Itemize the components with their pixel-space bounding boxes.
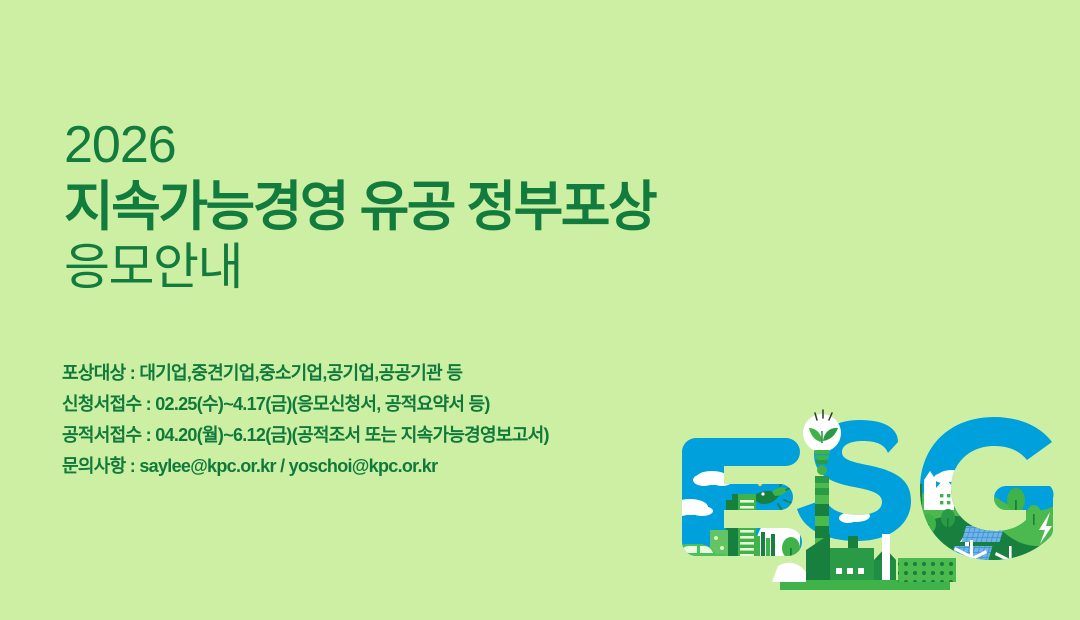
letter-e-group [660, 438, 820, 582]
tree-icon [782, 537, 800, 561]
poster-canvas: 2026 지속가능경영 유공 정부포상 응모안내 포상대상 : 대기업,중견기업… [0, 0, 1080, 620]
detail-line-target: 포상대상 : 대기업,중견기업,중소기업,공기업,공공기관 등 [62, 358, 722, 389]
heading-block: 2026 지속가능경영 유공 정부포상 응모안내 [64, 118, 764, 297]
office-building-icon [726, 494, 756, 560]
detail-line-contact: 문의사항 : saylee@kpc.or.kr / yoschoi@kpc.or… [62, 451, 722, 482]
detail-line-record: 공적서접수 : 04.20(월)~6.12(금)(공적조서 또는 지속가능경영보… [62, 420, 722, 451]
detail-line-application: 신청서접수 : 02.25(수)~4.17(금)(응모신청서, 공적요약서 등) [62, 389, 722, 420]
page-title-year: 2026 [64, 118, 764, 173]
field-dots-icon [898, 558, 956, 582]
page-title-subtitle: 응모안내 [64, 239, 764, 297]
tree-icon [1007, 488, 1025, 514]
esg-eco-illustration [660, 408, 1080, 620]
page-title-main: 지속가능경영 유공 정부포상 [64, 177, 764, 237]
tree-icon [981, 502, 997, 524]
detail-list: 포상대상 : 대기업,중견기업,중소기업,공기업,공공기관 등 신청서접수 : … [62, 358, 722, 482]
